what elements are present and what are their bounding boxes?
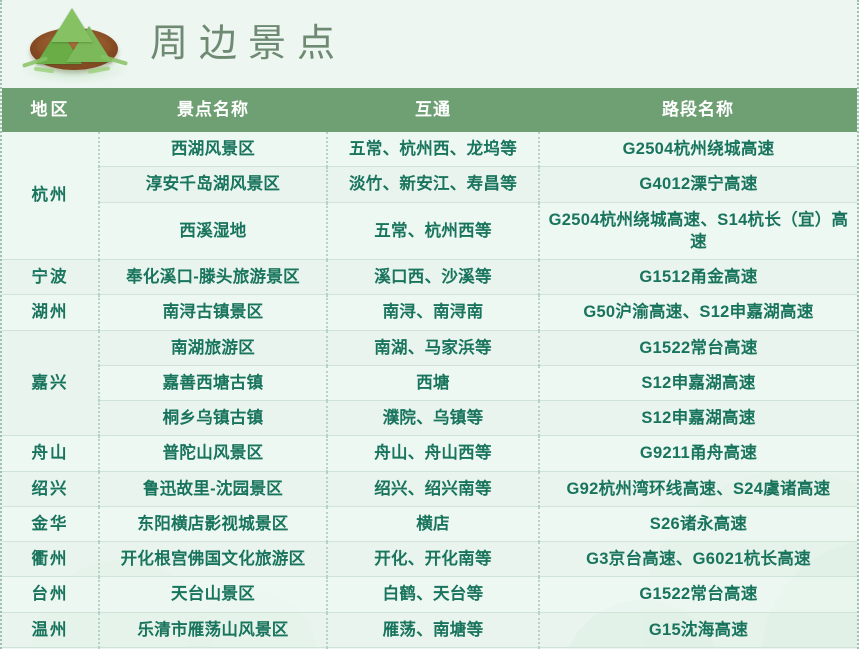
zongzi-on-plate-icon bbox=[16, 2, 132, 86]
cell-spot-name: 淳安千岛湖风景区 bbox=[99, 167, 327, 202]
cell-road-name: G15沈海高速 bbox=[539, 612, 857, 647]
cell-road-name: G50沪渝高速、S12申嘉湖高速 bbox=[539, 295, 857, 330]
table-row: 衢州开化根宫佛国文化旅游区开化、开化南等G3京台高速、G6021杭长高速 bbox=[2, 542, 857, 577]
cell-spot-name: 乐清市雁荡山风景区 bbox=[99, 612, 327, 647]
cell-hub: 五常、杭州西、龙坞等 bbox=[327, 132, 539, 167]
cell-hub: 南浔、南浔南 bbox=[327, 295, 539, 330]
cell-hub: 溪口西、沙溪等 bbox=[327, 260, 539, 295]
cell-hub: 淡竹、新安江、寿昌等 bbox=[327, 167, 539, 202]
table-row: 西溪湿地五常、杭州西等G2504杭州绕城高速、S14杭长（宜）高速 bbox=[2, 202, 857, 260]
table-row: 嘉善西塘古镇西塘S12申嘉湖高速 bbox=[2, 365, 857, 400]
cell-road-name: S12申嘉湖高速 bbox=[539, 401, 857, 436]
cell-hub: 雁荡、南塘等 bbox=[327, 612, 539, 647]
cell-spot-name: 开化根宫佛国文化旅游区 bbox=[99, 542, 327, 577]
cell-region: 金华 bbox=[2, 506, 99, 541]
table-row: 舟山普陀山风景区舟山、舟山西等G9211甬舟高速 bbox=[2, 436, 857, 471]
cell-region: 嘉兴 bbox=[2, 330, 99, 436]
nearby-attractions-table: 地区 景点名称 互通 路段名称 杭州西湖风景区五常、杭州西、龙坞等G2504杭州… bbox=[2, 88, 857, 649]
cell-spot-name: 鲁迅故里-沈园景区 bbox=[99, 471, 327, 506]
cell-road-name: G92杭州湾环线高速、S24虞诸高速 bbox=[539, 471, 857, 506]
column-header-spot: 景点名称 bbox=[99, 88, 327, 132]
column-header-road: 路段名称 bbox=[539, 88, 857, 132]
cell-spot-name: 西溪湿地 bbox=[99, 202, 327, 260]
table-row: 嘉兴南湖旅游区南湖、马家浜等G1522常台高速 bbox=[2, 330, 857, 365]
table-row: 桐乡乌镇古镇濮院、乌镇等S12申嘉湖高速 bbox=[2, 401, 857, 436]
zongzi-shape bbox=[51, 8, 93, 42]
cell-hub: 南湖、马家浜等 bbox=[327, 330, 539, 365]
cell-spot-name: 天台山景区 bbox=[99, 577, 327, 612]
cell-region: 台州 bbox=[2, 577, 99, 612]
cell-hub: 濮院、乌镇等 bbox=[327, 401, 539, 436]
cell-region: 杭州 bbox=[2, 132, 99, 260]
table-row: 湖州南浔古镇景区南浔、南浔南G50沪渝高速、S12申嘉湖高速 bbox=[2, 295, 857, 330]
cell-spot-name: 西湖风景区 bbox=[99, 132, 327, 167]
table-body: 杭州西湖风景区五常、杭州西、龙坞等G2504杭州绕城高速淳安千岛湖风景区淡竹、新… bbox=[2, 132, 857, 649]
cell-region: 温州 bbox=[2, 612, 99, 647]
cell-region: 绍兴 bbox=[2, 471, 99, 506]
table-header: 地区 景点名称 互通 路段名称 bbox=[2, 88, 857, 132]
column-header-hub: 互通 bbox=[327, 88, 539, 132]
cell-spot-name: 普陀山风景区 bbox=[99, 436, 327, 471]
page-root: 周边景点 地区 景点名称 互通 路段名称 杭州西湖风景区五常、杭州西、龙坞等G2… bbox=[0, 0, 859, 649]
cell-region: 宁波 bbox=[2, 260, 99, 295]
cell-spot-name: 南湖旅游区 bbox=[99, 330, 327, 365]
cell-hub: 横店 bbox=[327, 506, 539, 541]
cell-road-name: G9211甬舟高速 bbox=[539, 436, 857, 471]
cell-hub: 开化、开化南等 bbox=[327, 542, 539, 577]
cell-spot-name: 嘉善西塘古镇 bbox=[99, 365, 327, 400]
cell-spot-name: 东阳横店影视城景区 bbox=[99, 506, 327, 541]
cell-road-name: G2504杭州绕城高速 bbox=[539, 132, 857, 167]
table-row: 绍兴鲁迅故里-沈园景区绍兴、绍兴南等G92杭州湾环线高速、S24虞诸高速 bbox=[2, 471, 857, 506]
cell-region: 舟山 bbox=[2, 436, 99, 471]
cell-road-name: S12申嘉湖高速 bbox=[539, 365, 857, 400]
cell-spot-name: 桐乡乌镇古镇 bbox=[99, 401, 327, 436]
cell-region: 衢州 bbox=[2, 542, 99, 577]
table-row: 淳安千岛湖风景区淡竹、新安江、寿昌等G4012溧宁高速 bbox=[2, 167, 857, 202]
cell-road-name: G2504杭州绕城高速、S14杭长（宜）高速 bbox=[539, 202, 857, 260]
table-row: 杭州西湖风景区五常、杭州西、龙坞等G2504杭州绕城高速 bbox=[2, 132, 857, 167]
cell-spot-name: 奉化溪口-滕头旅游景区 bbox=[99, 260, 327, 295]
cell-hub: 绍兴、绍兴南等 bbox=[327, 471, 539, 506]
cell-road-name: G1522常台高速 bbox=[539, 577, 857, 612]
table-row: 宁波奉化溪口-滕头旅游景区溪口西、沙溪等G1512甬金高速 bbox=[2, 260, 857, 295]
table-row: 温州乐清市雁荡山风景区雁荡、南塘等G15沈海高速 bbox=[2, 612, 857, 647]
cell-road-name: S26诸永高速 bbox=[539, 506, 857, 541]
page-title: 周边景点 bbox=[150, 25, 346, 63]
cell-hub: 西塘 bbox=[327, 365, 539, 400]
table-header-row: 地区 景点名称 互通 路段名称 bbox=[2, 88, 857, 132]
cell-spot-name: 南浔古镇景区 bbox=[99, 295, 327, 330]
table-row: 台州天台山景区白鹤、天台等G1522常台高速 bbox=[2, 577, 857, 612]
cell-region: 湖州 bbox=[2, 295, 99, 330]
column-header-region: 地区 bbox=[2, 88, 99, 132]
cell-road-name: G1522常台高速 bbox=[539, 330, 857, 365]
cell-hub: 五常、杭州西等 bbox=[327, 202, 539, 260]
cell-road-name: G3京台高速、G6021杭长高速 bbox=[539, 542, 857, 577]
page-header: 周边景点 bbox=[2, 0, 857, 88]
table-row: 金华东阳横店影视城景区横店S26诸永高速 bbox=[2, 506, 857, 541]
cell-hub: 白鹤、天台等 bbox=[327, 577, 539, 612]
cell-road-name: G1512甬金高速 bbox=[539, 260, 857, 295]
cell-road-name: G4012溧宁高速 bbox=[539, 167, 857, 202]
cell-hub: 舟山、舟山西等 bbox=[327, 436, 539, 471]
